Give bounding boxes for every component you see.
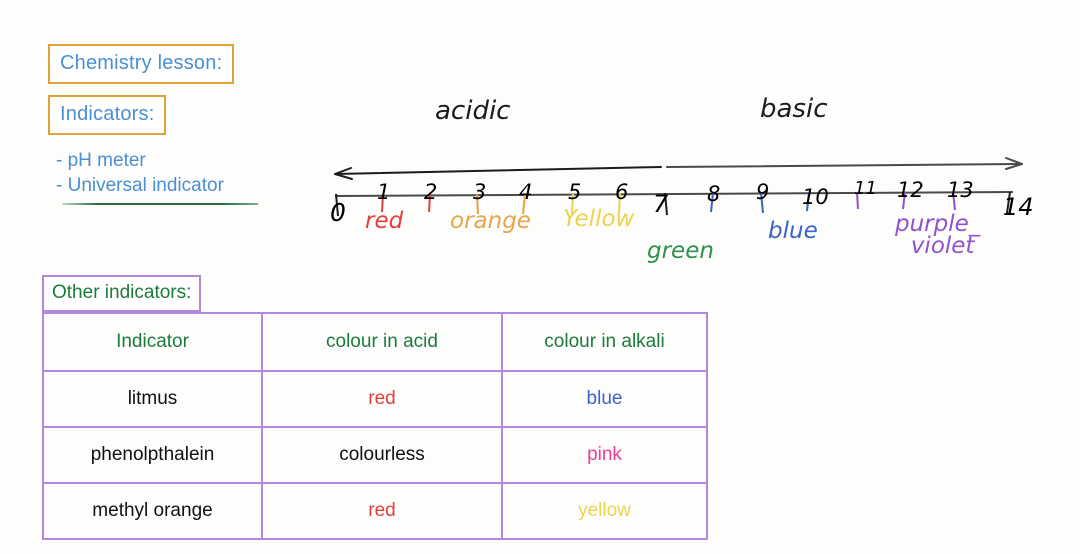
chemistry-lesson-label: Chemistry lesson:: [48, 44, 234, 84]
ph-number-1: 1: [377, 182, 390, 203]
colour-word-blue: blue: [768, 220, 818, 243]
table-row: phenolpthalein colourless pink: [43, 427, 707, 483]
ph-number-14: 14: [1003, 195, 1034, 219]
other-indicators-label: Other indicators:: [42, 275, 201, 312]
cell-colour-acid: red: [262, 483, 502, 539]
cell-colour-acid: colourless: [262, 427, 502, 483]
acidic-arrow: [335, 167, 661, 179]
colour-word-orange: orange: [450, 210, 531, 233]
ph-number-11: 11: [854, 180, 877, 198]
ph-scale-diagram: acidic basic: [325, 92, 1055, 272]
bullet-ph-meter: - pH meter: [52, 148, 224, 173]
header-colour-in-alkali: colour in alkali: [502, 313, 707, 371]
ph-number-4: 4: [519, 182, 532, 203]
ph-number-8: 8: [707, 184, 720, 205]
indicators-label: Indicators:: [48, 95, 166, 135]
indicators-bullet-list: - pH meter - Universal indicator: [52, 148, 224, 198]
ph-number-12: 12: [897, 180, 924, 201]
ph-number-7: 7: [653, 192, 668, 216]
colour-word-yellow: Yellow: [563, 208, 634, 231]
ph-number-13: 13: [947, 180, 974, 201]
cell-colour-alkali: blue: [502, 371, 707, 427]
basic-arrow: [667, 158, 1022, 169]
ph-number-2: 2: [424, 182, 437, 203]
ph-number-5: 5: [568, 182, 581, 203]
cell-indicator-name: litmus: [43, 371, 262, 427]
cell-indicator-name: phenolpthalein: [43, 427, 262, 483]
bullet-universal-indicator: - Universal indicator: [52, 173, 224, 198]
ph-number-10: 10: [802, 187, 829, 208]
basic-arrow-label: basic: [760, 94, 828, 124]
cell-colour-alkali: yellow: [502, 483, 707, 539]
ph-number-0: 0: [330, 200, 346, 225]
table-row: litmus red blue: [43, 371, 707, 427]
ph-number-9: 9: [756, 182, 769, 203]
ph-number-6: 6: [615, 182, 628, 203]
cell-colour-alkali: pink: [502, 427, 707, 483]
indicator-table: Indicator colour in acid colour in alkal…: [42, 312, 708, 540]
cell-colour-acid: red: [262, 371, 502, 427]
table-header-row: Indicator colour in acid colour in alkal…: [43, 313, 707, 371]
colour-word-violet: violet: [905, 236, 980, 258]
colour-word-red: red: [365, 210, 403, 233]
header-indicator: Indicator: [43, 313, 262, 371]
header-colour-in-acid: colour in acid: [262, 313, 502, 371]
cell-indicator-name: methyl orange: [43, 483, 262, 539]
ph-number-3: 3: [473, 182, 486, 203]
table-row: methyl orange red yellow: [43, 483, 707, 539]
whiteboard-canvas: Chemistry lesson: Indicators: - pH meter…: [0, 0, 1080, 554]
colour-word-green: green: [647, 240, 714, 263]
green-underline: [62, 203, 258, 205]
